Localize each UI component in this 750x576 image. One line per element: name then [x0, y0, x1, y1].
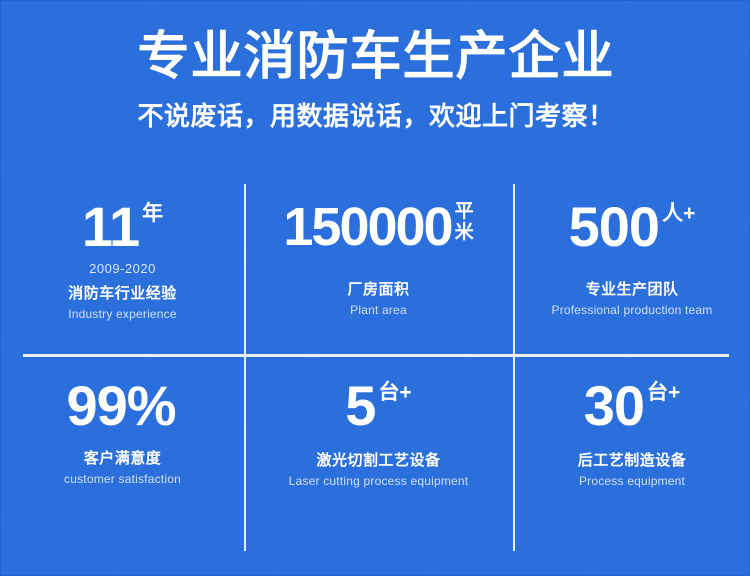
stat-unit: 平 米	[455, 201, 474, 243]
headline: 专业消防车生产企业	[1, 27, 750, 87]
stat-cell-laser-cutting-equipment: 5 台+ 激光切割工艺设备 Laser cutting process equi…	[244, 355, 513, 526]
stat-label-en: Plant area	[350, 303, 407, 317]
stat-cell-plant-area: 150000 平 米 厂房面积 Plant area	[244, 184, 513, 355]
stat-label-cn: 后工艺制造设备	[578, 449, 687, 470]
promo-banner: 专业消防车生产企业 不说废话，用数据说话，欢迎上门考察！ 11 年 2009-2…	[0, 0, 750, 576]
stat-unit: 年	[142, 202, 163, 225]
stat-figure: 5 台+	[345, 377, 411, 435]
stat-label-en: customer satisfaction	[64, 472, 181, 486]
banner-header: 专业消防车生产企业 不说废话，用数据说话，欢迎上门考察！	[1, 27, 750, 133]
subheadline: 不说废话，用数据说话，欢迎上门考察！	[1, 99, 750, 133]
stat-figure: 99%	[66, 377, 178, 435]
stat-unit: 台+	[378, 381, 411, 404]
stat-label-cn: 专业生产团队	[585, 278, 678, 299]
stat-label-en: Professional production team	[551, 303, 712, 317]
stats-grid: 11 年 2009-2020 消防车行业经验 Industry experien…	[1, 184, 750, 554]
stat-cell-customer-satisfaction: 99% 客户满意度 customer satisfaction	[1, 355, 244, 526]
stat-number: 11	[82, 198, 139, 256]
stat-figure: 30 台+	[584, 377, 681, 435]
stat-unit: 人+	[662, 202, 695, 225]
stat-label-en: Industry experience	[68, 307, 177, 321]
stat-number: 99%	[66, 377, 175, 435]
stat-unit-top: 平	[455, 201, 474, 222]
stat-label-en: Process equipment	[579, 474, 685, 488]
stat-number: 150000	[283, 198, 451, 256]
stat-number: 5	[345, 377, 375, 435]
stat-unit-bottom: 米	[455, 222, 474, 243]
stat-number: 500	[569, 198, 659, 256]
stat-cell-process-equipment: 30 台+ 后工艺制造设备 Process equipment	[513, 355, 750, 526]
stat-year-range: 2009-2020	[89, 261, 156, 276]
stat-label-cn: 客户满意度	[84, 447, 162, 468]
stat-cell-production-team: 500 人+ 专业生产团队 Professional production te…	[513, 184, 750, 355]
stat-label-cn: 激光切割工艺设备	[316, 449, 440, 470]
stat-figure: 500 人+	[569, 198, 696, 256]
stat-label-cn: 消防车行业经验	[68, 282, 177, 303]
stat-label-cn: 厂房面积	[347, 278, 409, 299]
stat-figure: 150000 平 米	[283, 198, 473, 256]
stat-number: 30	[584, 377, 644, 435]
stat-label-en: Laser cutting process equipment	[289, 474, 469, 488]
stat-unit: 台+	[647, 381, 680, 404]
stat-cell-industry-experience: 11 年 2009-2020 消防车行业经验 Industry experien…	[1, 184, 244, 355]
stat-figure: 11 年	[82, 198, 163, 256]
